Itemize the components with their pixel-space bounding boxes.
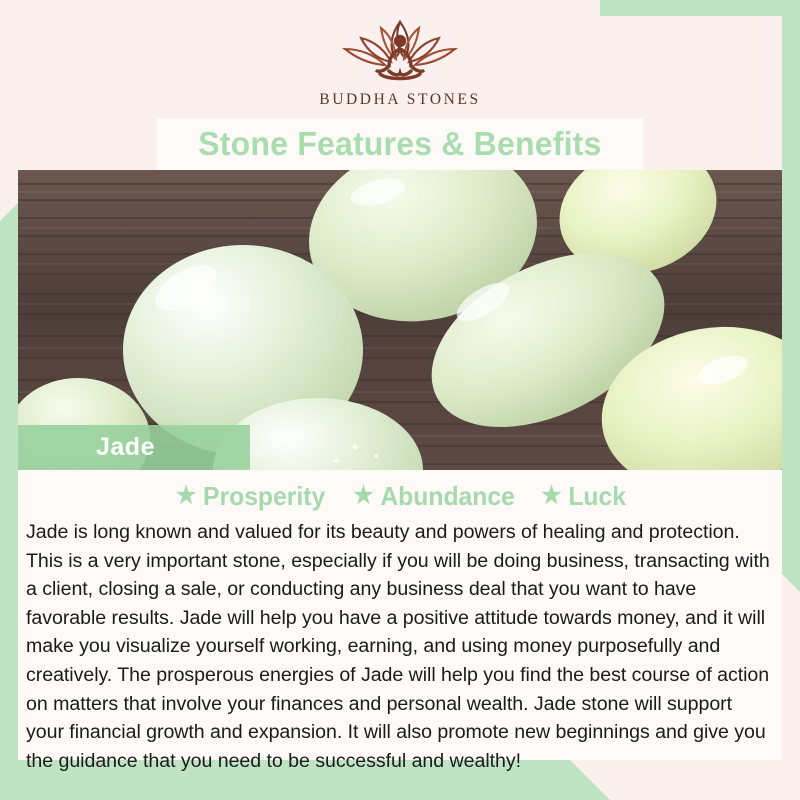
benefit-item: ★ Abundance	[353, 481, 515, 512]
benefit-item: ★ Luck	[541, 481, 626, 512]
benefit-label: Prosperity	[203, 481, 325, 512]
decor-strip-left	[0, 203, 18, 763]
stone-name-badge: Jade	[18, 425, 250, 470]
benefits-row: ★ Prosperity ★ Abundance ★ Luck	[18, 470, 782, 516]
content-panel: ★ Prosperity ★ Abundance ★ Luck Jade is …	[18, 470, 782, 760]
star-icon: ★	[176, 484, 196, 508]
stone-info-card: BUDDHA STONES Stone Features & Benefits	[0, 0, 800, 800]
star-icon: ★	[541, 484, 561, 508]
lotus-meditation-icon	[325, 16, 475, 88]
brand-logo: BUDDHA STONES	[319, 16, 480, 109]
benefit-label: Abundance	[380, 481, 514, 512]
title-banner: Stone Features & Benefits	[157, 118, 643, 170]
benefit-item: ★ Prosperity	[176, 481, 325, 512]
benefit-label: Luck	[568, 481, 626, 512]
stone-name-label: Jade	[96, 433, 155, 462]
brand-header: BUDDHA STONES	[0, 0, 800, 118]
star-icon: ★	[353, 484, 373, 508]
brand-wordmark: BUDDHA STONES	[319, 91, 480, 109]
stone-description: Jade is long known and valued for its be…	[18, 516, 782, 775]
page-title: Stone Features & Benefits	[198, 125, 601, 163]
